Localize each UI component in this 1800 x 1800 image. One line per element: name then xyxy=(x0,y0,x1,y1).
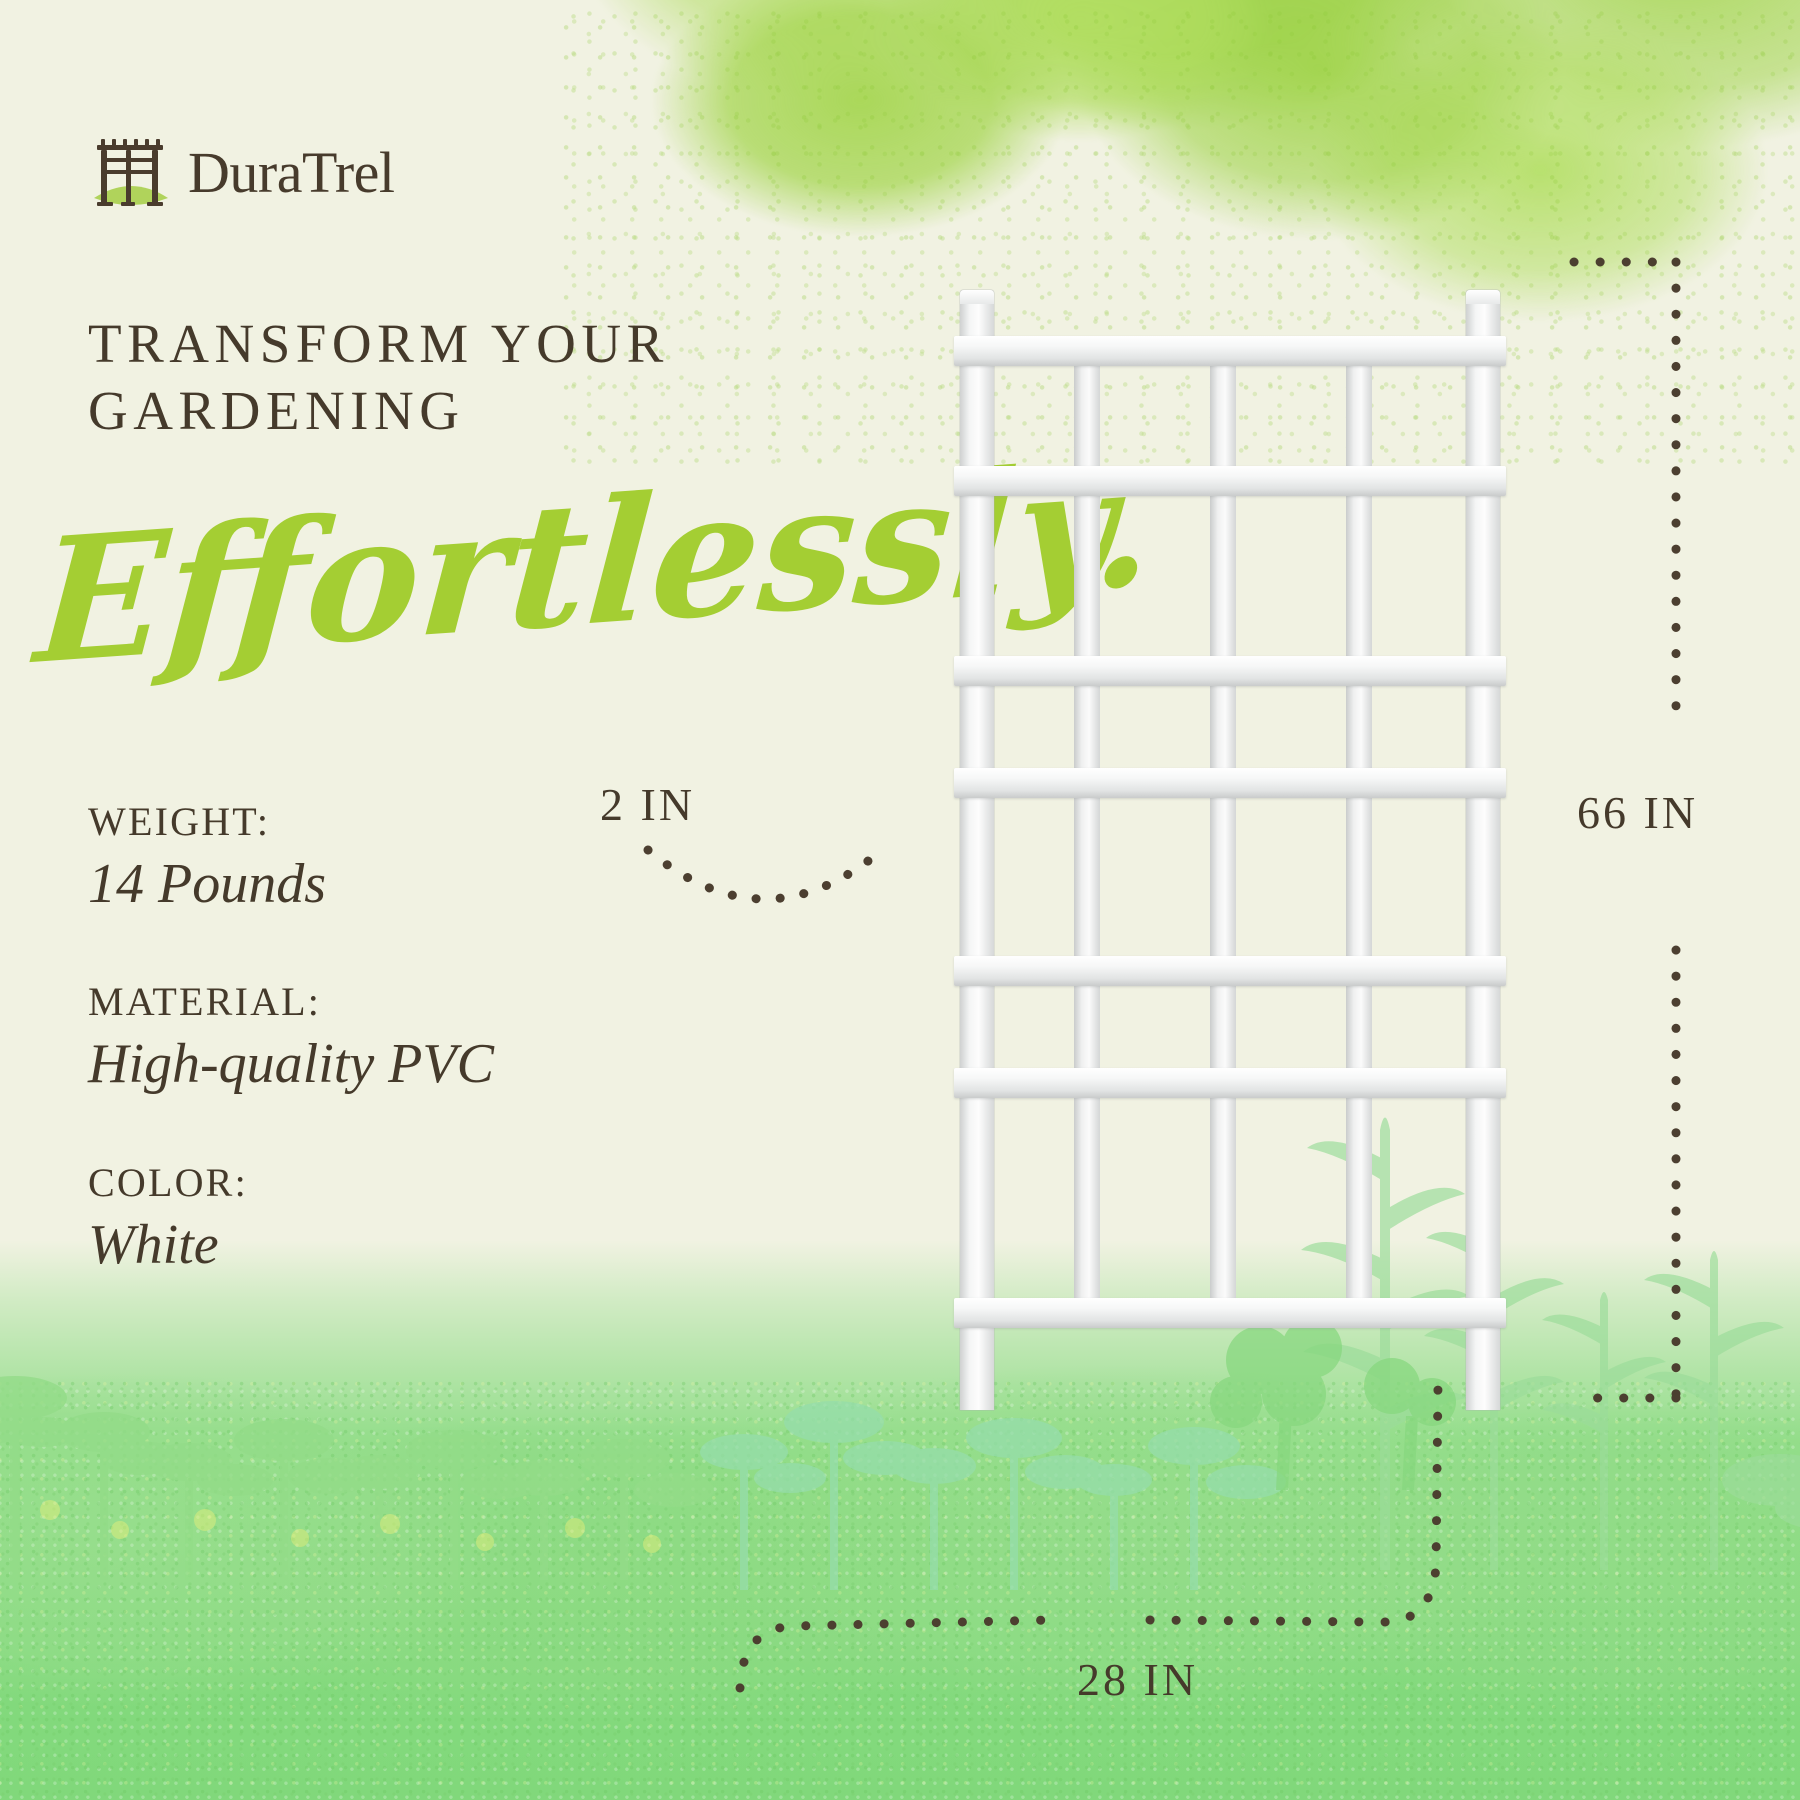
trellis-rail xyxy=(954,466,1506,496)
headline-line-1: TRANSFORM YOUR xyxy=(88,310,788,377)
promo-canvas: DuraTrel TRANSFORM YOUR GARDENING Effort… xyxy=(0,0,1800,1800)
script-headline: Effortlessly. xyxy=(50,470,840,740)
trellis-rail xyxy=(954,656,1506,686)
spec-label-material: MATERIAL: xyxy=(88,980,728,1024)
trellis-slat xyxy=(1346,480,1372,670)
trellis-slat xyxy=(1074,670,1100,782)
trellis-slat xyxy=(1074,970,1100,1082)
trellis-post-left xyxy=(960,290,994,1410)
trellis-slat xyxy=(1210,1082,1236,1312)
post-cap-left xyxy=(960,290,994,304)
trellis-post-right xyxy=(1466,290,1500,1410)
product-trellis xyxy=(960,290,1500,1410)
trellis-rail xyxy=(954,336,1506,366)
grass-band xyxy=(0,1240,1800,1800)
trellis-rail-bottom xyxy=(954,1298,1506,1328)
trellis-slat xyxy=(1346,782,1372,970)
trellis-slat xyxy=(1346,350,1372,480)
trellis-slat xyxy=(1210,970,1236,1082)
trellis-slat xyxy=(1074,1082,1100,1312)
trellis-slat xyxy=(1074,350,1100,480)
spec-value-weight: 14 Pounds xyxy=(88,850,728,918)
arbor-pergola-icon xyxy=(88,130,174,216)
spec-label-color: COLOR: xyxy=(88,1161,728,1205)
trellis-slat xyxy=(1210,350,1236,480)
spec-value-material: High-quality PVC xyxy=(88,1030,728,1098)
brand-name: DuraTrel xyxy=(188,144,395,202)
trellis-rail xyxy=(954,956,1506,986)
trellis-slat xyxy=(1346,670,1372,782)
dimension-label-height: 66 IN xyxy=(1577,786,1698,839)
trellis-rail xyxy=(954,768,1506,798)
dimension-bracket-width xyxy=(720,1370,1480,1700)
grass-texture xyxy=(0,1380,1800,1800)
headline-line-2: GARDENING xyxy=(88,377,788,444)
brand-logo: DuraTrel xyxy=(88,130,395,216)
page-title: TRANSFORM YOUR GARDENING xyxy=(88,310,788,444)
dimension-label-thickness: 2 IN xyxy=(600,778,695,831)
spec-item-color: COLOR: White xyxy=(88,1161,728,1279)
trellis-slat xyxy=(1346,1082,1372,1312)
trellis-slat xyxy=(1210,670,1236,782)
post-cap-right xyxy=(1466,290,1500,304)
trellis-slat xyxy=(1210,782,1236,970)
trellis-slat xyxy=(1074,480,1100,670)
spec-value-color: White xyxy=(88,1211,728,1279)
dimension-label-width: 28 IN xyxy=(1077,1653,1198,1706)
trellis-slat xyxy=(1210,480,1236,670)
spec-item-material: MATERIAL: High-quality PVC xyxy=(88,980,728,1098)
spec-list: WEIGHT: 14 Pounds MATERIAL: High-quality… xyxy=(88,800,728,1279)
trellis-slat xyxy=(1346,970,1372,1082)
trellis-rail xyxy=(954,1068,1506,1098)
trellis-slat xyxy=(1074,782,1100,970)
